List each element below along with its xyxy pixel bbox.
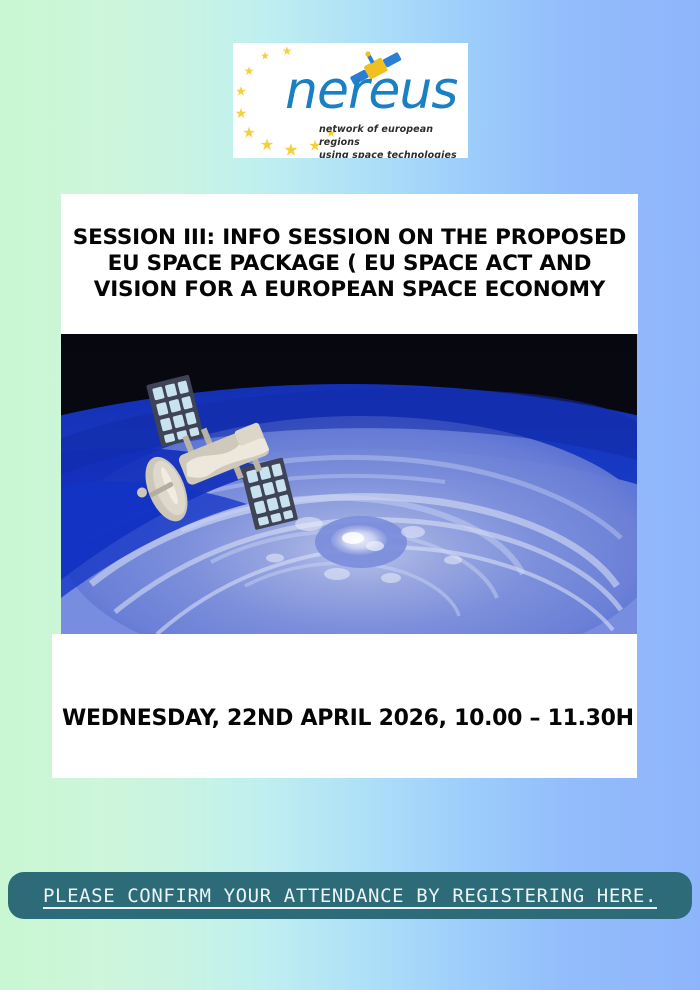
session-title: SESSION III: INFO SESSION ON THE PROPOSE… <box>61 225 638 303</box>
logo-tagline-line1: network of european regions <box>319 123 468 149</box>
poster-root: nereus network of european regions using… <box>0 0 700 990</box>
session-datetime: WEDNESDAY, 22ND APRIL 2026, 10.00 – 11.3… <box>62 706 634 732</box>
earth-satellite-photo <box>61 334 637 634</box>
logo-wordmark: nereus <box>285 65 457 117</box>
earth-satellite-illustration <box>61 334 637 634</box>
register-cta-button[interactable]: PLEASE CONFIRM YOUR ATTENDANCE BY REGIST… <box>8 872 692 919</box>
logo-tagline-line2: using space technologies <box>319 149 468 158</box>
register-cta-label[interactable]: PLEASE CONFIRM YOUR ATTENDANCE BY REGIST… <box>43 885 657 907</box>
logo-tagline: network of european regions using space … <box>319 123 468 158</box>
title-card: SESSION III: INFO SESSION ON THE PROPOSE… <box>61 194 638 334</box>
date-card: WEDNESDAY, 22ND APRIL 2026, 10.00 – 11.3… <box>52 634 637 778</box>
nereus-logo: nereus network of european regions using… <box>233 43 468 158</box>
